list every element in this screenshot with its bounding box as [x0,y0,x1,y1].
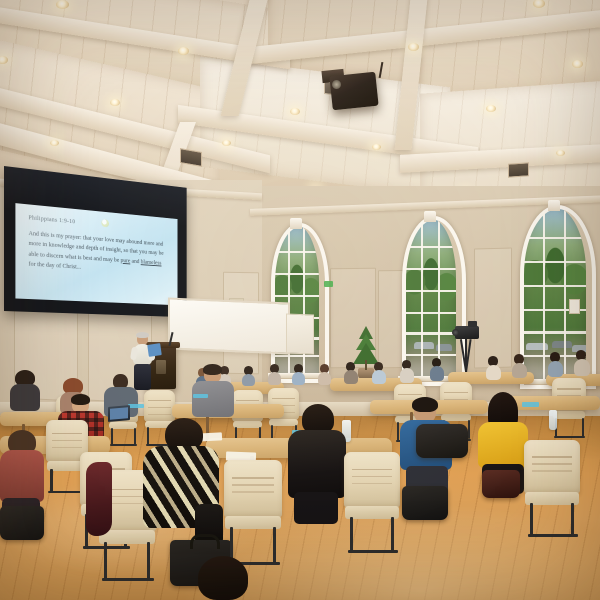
attendee [512,354,527,377]
attendee [372,362,386,383]
whiteboard [168,297,290,354]
attendee-grey-shirt [192,366,234,416]
hvac-vent [508,162,529,177]
ceiling-projector [329,72,378,111]
ceiling-downlight [556,150,565,156]
attendee [344,362,358,383]
ceiling-downlight [50,140,59,146]
blue-handout [193,394,208,398]
ceiling-downlight [222,140,231,146]
attendee [242,366,255,385]
arched-window-center [404,218,456,376]
exit-sign [324,281,333,287]
attendee [292,364,305,384]
attendee [400,360,414,382]
window-keystone [548,200,560,211]
whiteboard-secondary [286,314,314,355]
projection-screen: Philippians 1:9-10 And this is my prayer… [4,166,187,317]
slide-body-text: And this is my prayer: that your love ma… [29,229,169,278]
attendee [548,352,563,376]
floor-bag [482,470,520,498]
bag-handle [190,534,220,549]
ceiling-downlight [408,43,419,51]
window-keystone [290,218,302,229]
ceiling-downlight [56,0,69,9]
window-keystone [424,211,436,222]
wall-plate [569,299,580,314]
water-bottle [549,410,557,430]
chair-foreground [344,452,400,552]
ceiling-downlight [486,105,496,112]
attendee [268,364,281,384]
ceiling-downlight [572,60,583,68]
attendee-patterned-jacket [143,418,219,546]
floor-bag [402,486,448,520]
attendee [430,358,444,380]
wall-panel [474,248,512,369]
blue-handout [128,404,144,408]
camera-viewfinder [468,321,477,327]
attendee [574,350,590,375]
ceiling-downlight [178,47,189,55]
draped-coat [86,462,112,536]
attendee [486,356,501,379]
slide-scripture-reference: Philippians 1:9-10 [29,214,76,225]
attendee [318,364,331,384]
floor-bag [0,506,44,540]
attendee-black-top [288,404,346,522]
conference-hall-photo: Philippians 1:9-10 And this is my prayer… [0,0,600,600]
laptop-screen [110,407,128,420]
chair-foreground [524,440,580,536]
slide-logo-icon [101,219,109,227]
ceiling-downlight [110,99,120,106]
ceiling-downlight [372,144,381,150]
attendee-bottom-edge [188,556,258,600]
presenter-notes [147,343,162,357]
chair-foreground [224,460,282,564]
podium-emblem [156,360,166,374]
camera-lens-icon [452,329,459,336]
backpack [416,424,468,458]
attendee-dark-hair [10,370,40,410]
ceiling-downlight [290,108,300,115]
slide-surface: Philippians 1:9-10 And this is my prayer… [15,203,177,305]
